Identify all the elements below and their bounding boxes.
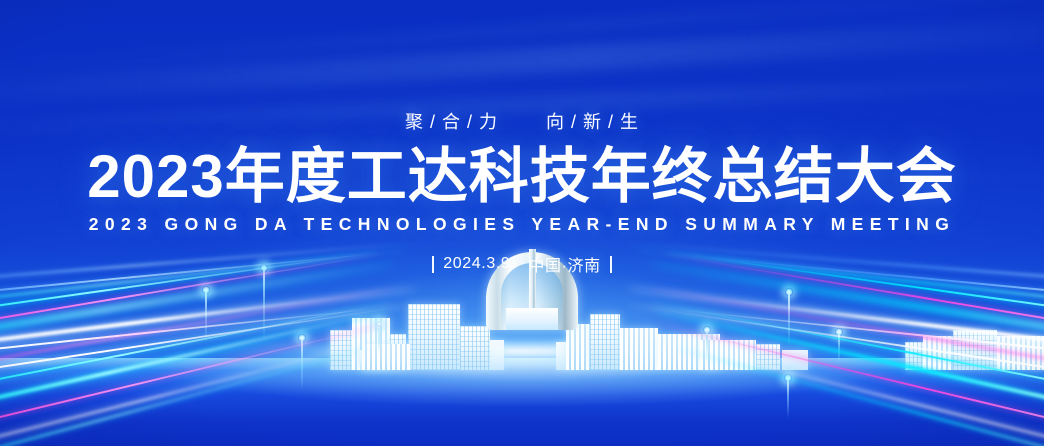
banner-subtitle-english: 2023 GONG DA TECHNOLOGIES YEAR-END SUMMA… (0, 214, 1044, 235)
banner-meta: 2024.3.9 中国·济南 (0, 252, 1044, 276)
banner-title: 2023年度工达科技年终总结大会 (0, 146, 1044, 208)
divider-right-icon (610, 256, 612, 273)
divider-left-icon (432, 256, 434, 273)
ground-plane (0, 358, 1044, 446)
banner-kicker: 聚 / 合 / 力 向 / 新 / 生 (0, 108, 1044, 134)
event-location: 中国·济南 (528, 252, 600, 276)
event-date: 2024.3.9 (443, 255, 510, 273)
event-banner: 聚 / 合 / 力 向 / 新 / 生 2023年度工达科技年终总结大会 202… (0, 0, 1044, 446)
banner-text-block: 聚 / 合 / 力 向 / 新 / 生 2023年度工达科技年终总结大会 202… (0, 0, 1044, 276)
